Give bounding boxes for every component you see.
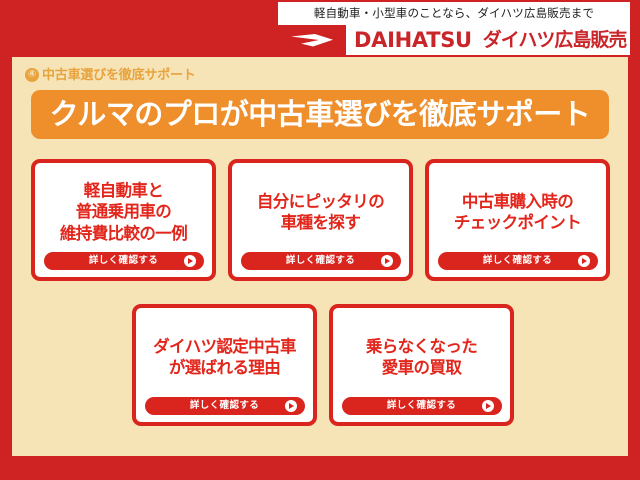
section-kicker-label: 中古車選びを徹底サポート (42, 69, 196, 82)
card-title-line: チェックポイント (454, 213, 581, 233)
section-headline-banner: クルマのプロが中古車選びを徹底サポート (31, 90, 609, 139)
page-root: 軽自動車・小型車のことなら、ダイハツ広島販売まで DAIHATSU ダイハツ広島… (0, 0, 640, 480)
card-cta-label: 詳しく確認する (190, 401, 259, 411)
card-title-line: 中古車購入時の (462, 192, 573, 212)
header-branding: 軽自動車・小型車のことなら、ダイハツ広島販売まで DAIHATSU ダイハツ広島… (278, 2, 630, 55)
play-arrow-icon (184, 255, 196, 267)
card-title: 自分にピッタリの 車種を探す (232, 173, 409, 252)
card-cta-label: 詳しく確認する (483, 256, 552, 266)
card-cta-button[interactable]: 詳しく確認する (342, 397, 502, 415)
logo-mark-cell (278, 25, 346, 55)
card-title-line: 維持費比較の一例 (60, 224, 187, 244)
card-cta-label: 詳しく確認する (286, 256, 355, 266)
card-cta-button[interactable]: 詳しく確認する (44, 252, 204, 270)
card-title: 中古車購入時の チェックポイント (429, 173, 606, 252)
card-title-line: 乗らなくなった (366, 337, 477, 357)
header-tagline-box: 軽自動車・小型車のことなら、ダイハツ広島販売まで (278, 2, 630, 25)
card-title-line: 愛車の買取 (382, 358, 462, 378)
site-header: 軽自動車・小型車のことなら、ダイハツ広島販売まで DAIHATSU ダイハツ広島… (0, 0, 640, 57)
play-arrow-icon (578, 255, 590, 267)
daihatsu-d-mark-icon (289, 30, 335, 50)
card-cta-label: 詳しく確認する (387, 401, 456, 411)
card-cta-button[interactable]: 詳しく確認する (438, 252, 598, 270)
card-title-line: 軽自動車と (84, 181, 164, 201)
card-title: 乗らなくなった 愛車の買取 (333, 318, 510, 397)
card-title-line: 普通乗用車の (76, 202, 171, 222)
logo-wordmark: DAIHATSU (354, 30, 472, 51)
card-car-purchase-buyback[interactable]: 乗らなくなった 愛車の買取 詳しく確認する (329, 304, 514, 426)
card-used-car-checkpoints[interactable]: 中古車購入時の チェックポイント 詳しく確認する (425, 159, 610, 281)
card-title-line: ダイハツ認定中古車 (153, 337, 296, 357)
card-row-top: 軽自動車と 普通乗用車の 維持費比較の一例 詳しく確認する 自分にピッタリの 車… (31, 159, 610, 281)
card-cta-button[interactable]: 詳しく確認する (145, 397, 305, 415)
play-arrow-icon (381, 255, 393, 267)
card-maintenance-cost-comparison[interactable]: 軽自動車と 普通乗用車の 維持費比較の一例 詳しく確認する (31, 159, 216, 281)
section-kicker: ④ 中古車選びを徹底サポート (25, 68, 196, 82)
card-cta-label: 詳しく確認する (89, 256, 158, 266)
header-tagline: 軽自動車・小型車のことなら、ダイハツ広島販売まで (314, 8, 594, 20)
card-find-your-model[interactable]: 自分にピッタリの 車種を探す 詳しく確認する (228, 159, 413, 281)
section-number-badge: ④ (25, 68, 39, 82)
card-row-bottom: ダイハツ認定中古車 が選ばれる理由 詳しく確認する 乗らなくなった 愛車の買取 … (132, 304, 514, 426)
logo-dealer-name: ダイハツ広島販売 (483, 31, 627, 50)
card-title-line: 車種を探す (281, 213, 361, 233)
card-title-line: 自分にピッタリの (257, 192, 384, 212)
play-arrow-icon (285, 400, 297, 412)
card-cta-button[interactable]: 詳しく確認する (241, 252, 401, 270)
logo-row[interactable]: DAIHATSU ダイハツ広島販売 (278, 25, 630, 55)
play-arrow-icon (482, 400, 494, 412)
card-title: ダイハツ認定中古車 が選ばれる理由 (136, 318, 313, 397)
card-certified-used-car-reasons[interactable]: ダイハツ認定中古車 が選ばれる理由 詳しく確認する (132, 304, 317, 426)
card-title-line: が選ばれる理由 (169, 358, 280, 378)
logo-word-cell: DAIHATSU ダイハツ広島販売 (346, 25, 630, 55)
content-panel: ④ 中古車選びを徹底サポート クルマのプロが中古車選びを徹底サポート 軽自動車と… (12, 57, 628, 456)
card-title: 軽自動車と 普通乗用車の 維持費比較の一例 (35, 173, 212, 252)
section-headline-text: クルマのプロが中古車選びを徹底サポート (50, 100, 591, 129)
